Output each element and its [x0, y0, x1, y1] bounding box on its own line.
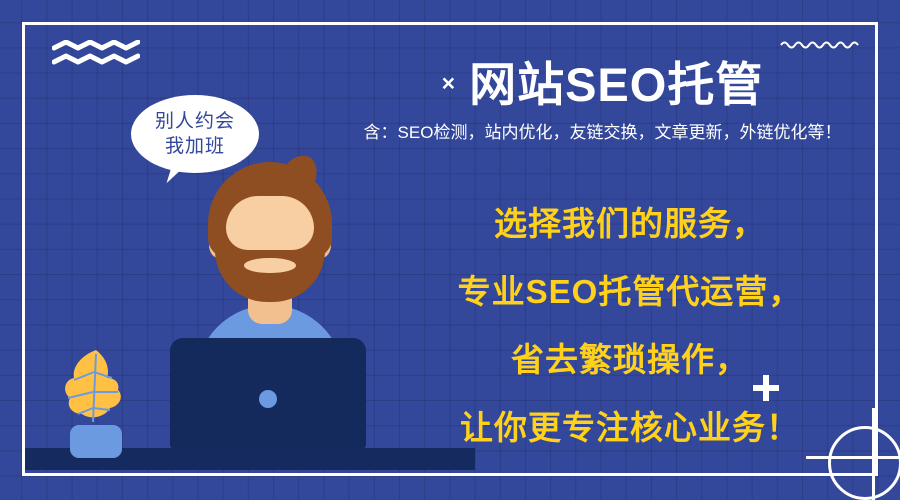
plant-leaf-icon	[60, 348, 132, 430]
speech-bubble-line-2: 我加班	[165, 134, 225, 159]
speech-bubble: 别人约会 我加班	[131, 95, 259, 173]
page-subtitle: 含：SEO检测，站内优化，友链交换，文章更新，外链优化等！	[330, 118, 875, 143]
cross-mark-icon: ×	[442, 70, 455, 97]
pitch-line-3: 省去繁琐操作，	[400, 326, 860, 394]
plant-pot-shape	[70, 425, 122, 458]
plant-illustration	[60, 348, 132, 458]
pitch-line-4: 让你更专注核心业务！	[400, 394, 860, 462]
page-title: 网站SEO托管	[469, 46, 763, 115]
pitch-text-block: 选择我们的服务， 专业SEO托管代运营， 省去繁琐操作， 让你更专注核心业务！	[400, 190, 860, 462]
laptop-illustration	[170, 338, 366, 450]
pitch-line-1: 选择我们的服务，	[400, 190, 860, 258]
title-row: × 网站SEO托管	[330, 46, 875, 115]
forehead-shape	[226, 196, 314, 250]
vertical-line-decoration	[872, 408, 875, 500]
speech-bubble-line-1: 别人约会	[155, 109, 235, 134]
mouth-shape	[244, 258, 296, 273]
pitch-line-2: 专业SEO托管代运营，	[400, 258, 860, 326]
seo-hosting-banner: 别人约会 我加班 × 网站SEO托管 含：SEO检测，站内优化，友链交换，文章更…	[0, 0, 900, 500]
laptop-logo-icon	[259, 390, 277, 408]
